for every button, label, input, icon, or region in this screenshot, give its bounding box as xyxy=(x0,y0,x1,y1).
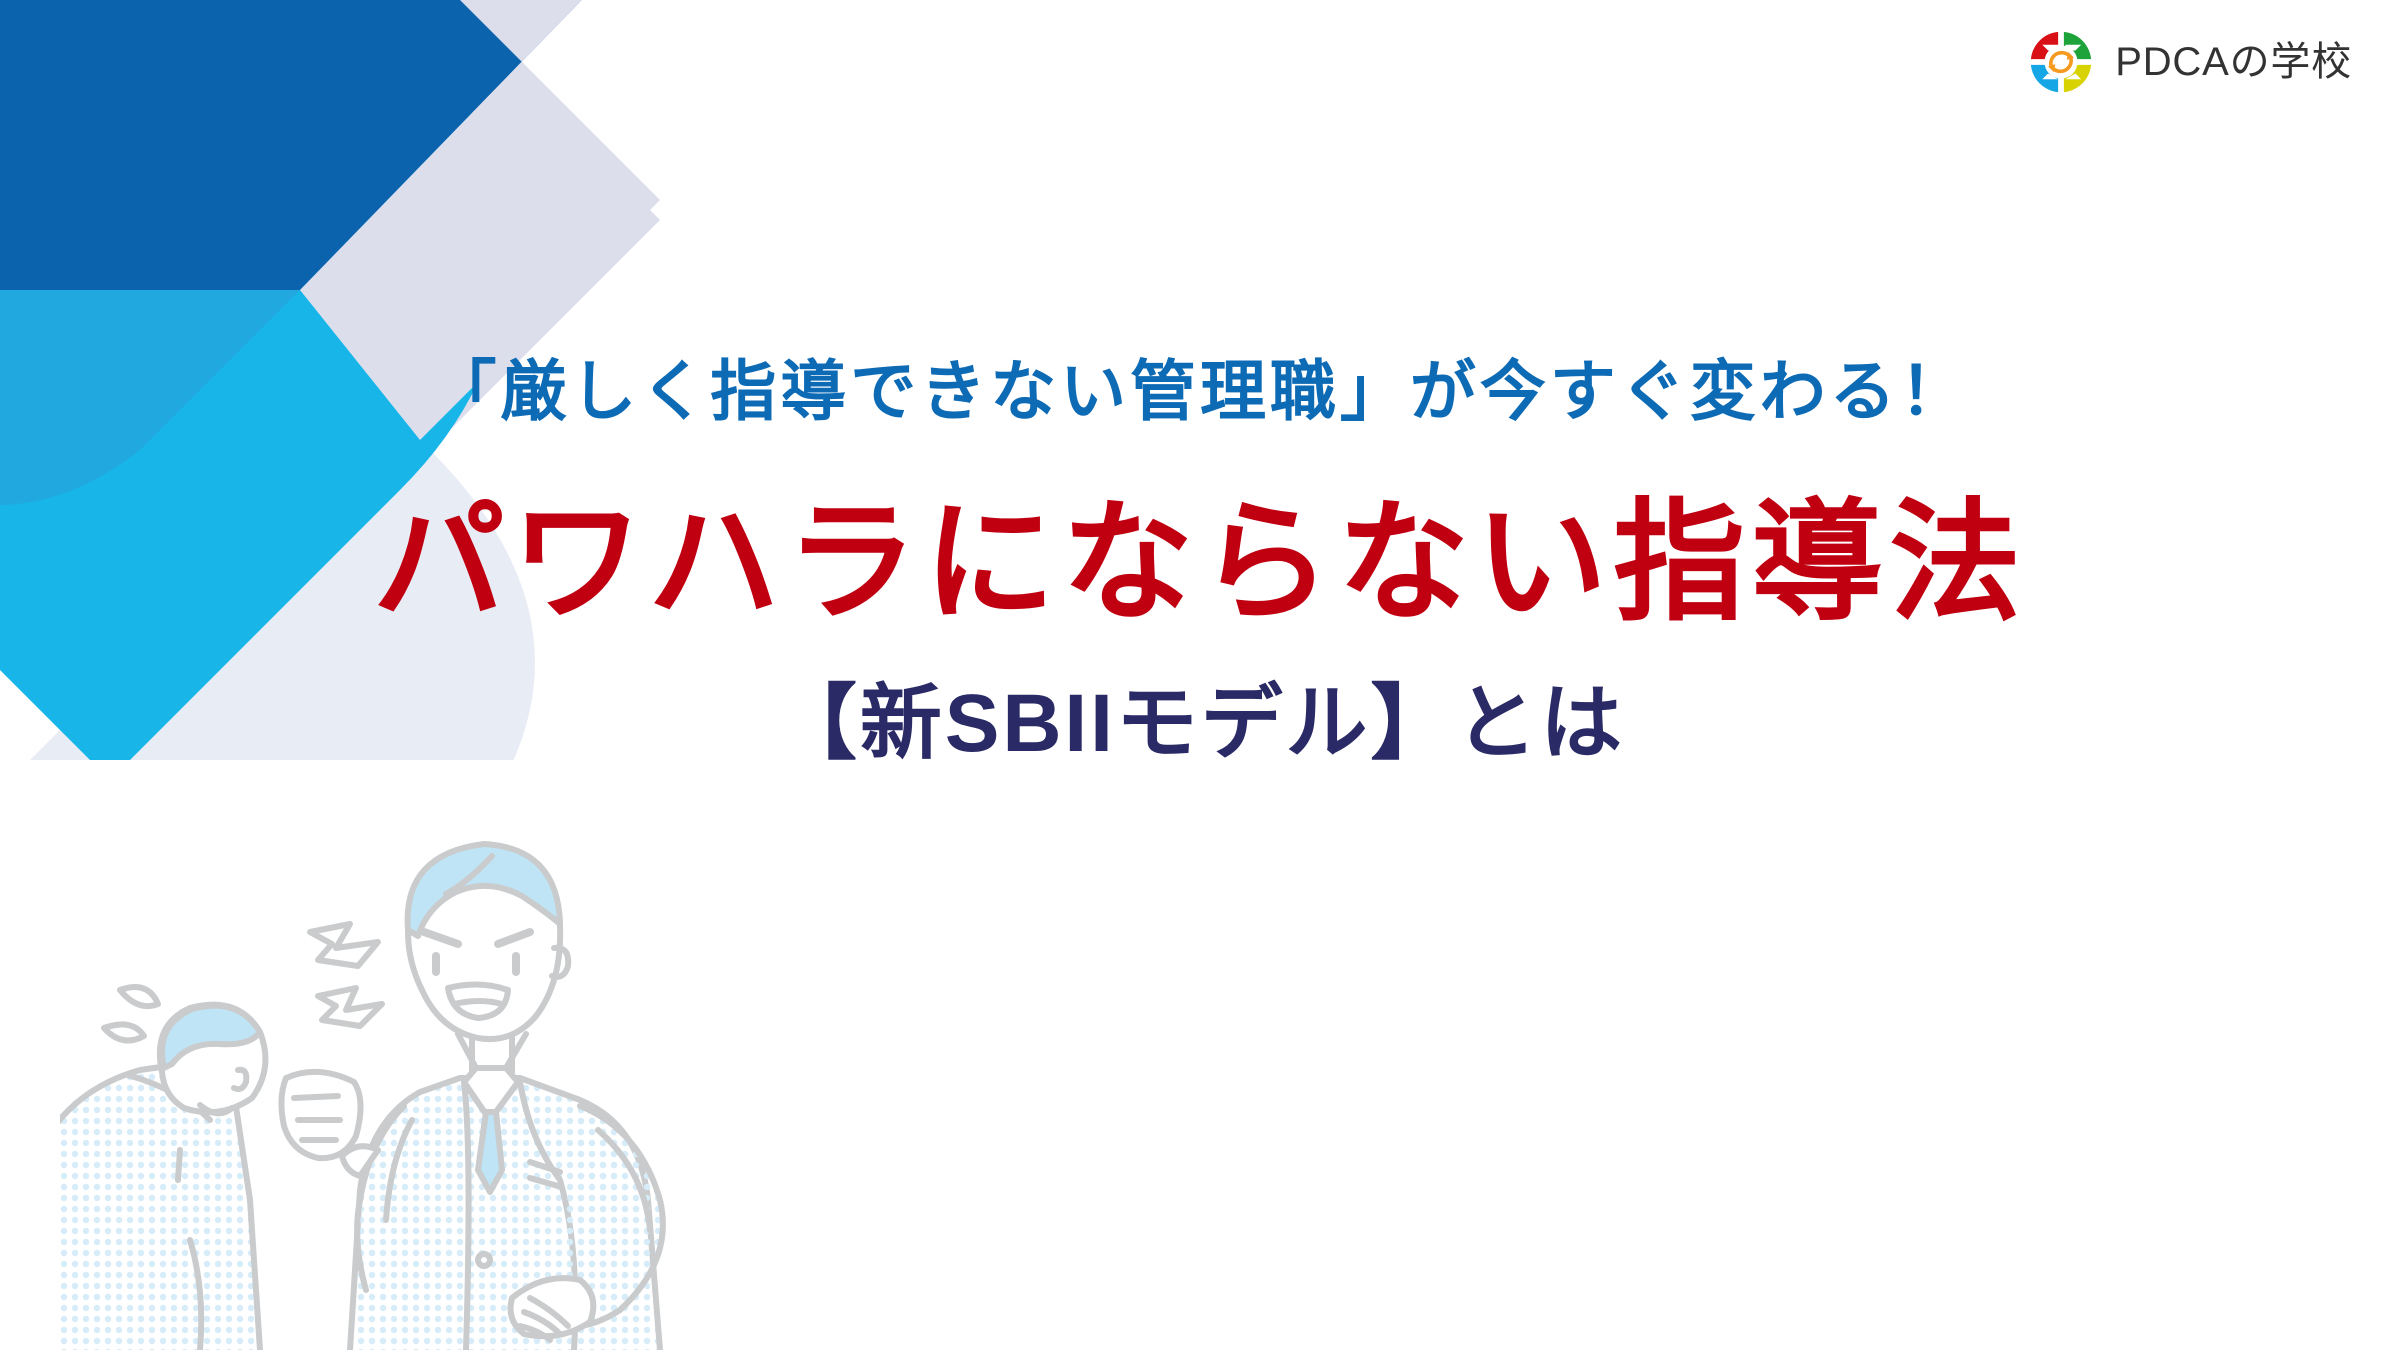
anger-mark-icon xyxy=(310,924,382,1026)
dark-blue-triangle xyxy=(0,0,640,290)
sweat-drop-icon xyxy=(104,987,158,1040)
lavender-band-front xyxy=(1740,910,2100,1350)
brand-logo-text: PDCAの学校 xyxy=(2115,42,2352,82)
angry-manager-figure xyxy=(281,844,662,1350)
dark-blue-triangle xyxy=(1760,1060,2400,1350)
power-harassment-illustration xyxy=(60,820,700,1350)
cyan-overlay-shape xyxy=(2010,845,2400,1350)
bowing-subordinate-figure xyxy=(60,1005,265,1350)
slide-canvas: PDCAの学校 「厳しく指導できない管理職」が今すぐ変わる！ パワハラにならない… xyxy=(0,0,2400,1350)
headline-sub-line: 【新SBIIモデル】とは xyxy=(0,675,2400,773)
headline-main-title: パワハラにならない指導法 xyxy=(0,485,2400,641)
headline-block: 「厳しく指導できない管理職」が今すぐ変わる！ パワハラにならない指導法 【新SB… xyxy=(0,352,2400,773)
headline-subtitle: 「厳しく指導できない管理職」が今すぐ変わる！ xyxy=(0,352,2400,431)
pdca-cycle-wheel-icon xyxy=(2025,26,2097,98)
brand-logo[interactable]: PDCAの学校 xyxy=(2025,26,2352,98)
